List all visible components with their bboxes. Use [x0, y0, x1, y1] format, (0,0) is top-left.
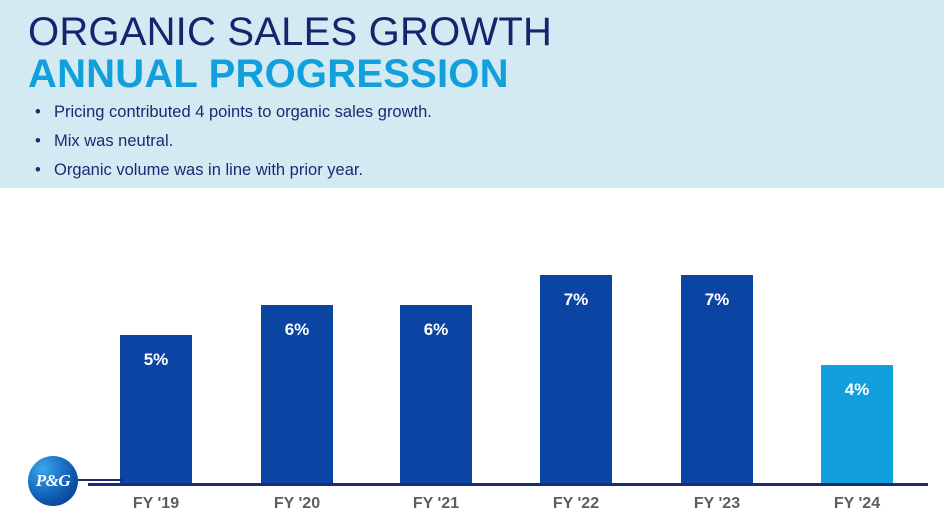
- list-item: • Pricing contributed 4 points to organi…: [33, 101, 432, 123]
- x-axis-line: [88, 483, 928, 486]
- summary-bullet-list: • Pricing contributed 4 points to organi…: [33, 101, 432, 188]
- header-band: ORGANIC SALES GROWTH ANNUAL PROGRESSION …: [0, 0, 944, 188]
- bar-group-fy23: 7% FY '23: [681, 275, 753, 483]
- bar-value-label: 6%: [400, 320, 472, 340]
- x-axis-tick-label: FY '22: [526, 494, 626, 514]
- slide: ORGANIC SALES GROWTH ANNUAL PROGRESSION …: [0, 0, 944, 521]
- list-item: • Mix was neutral.: [33, 130, 432, 152]
- bullet-dot-icon: •: [35, 130, 41, 152]
- x-axis-tick-label: FY '23: [667, 494, 767, 514]
- x-axis-tick-label: FY '21: [386, 494, 486, 514]
- bullet-dot-icon: •: [35, 101, 41, 123]
- bar-value-label: 7%: [681, 290, 753, 310]
- pg-logo-wordmark: P&G: [28, 456, 78, 506]
- page-title-secondary: ANNUAL PROGRESSION: [28, 51, 509, 97]
- bar-group-fy24: 4% FY '24: [821, 365, 893, 483]
- bar-chart: 5% FY '19 6% FY '20 6% FY '21 7% FY '22 …: [0, 188, 944, 521]
- bar-value-label: 5%: [120, 350, 192, 370]
- list-item-label: Organic volume was in line with prior ye…: [54, 161, 363, 179]
- bar-value-label: 6%: [261, 320, 333, 340]
- bar-group-fy20: 6% FY '20: [261, 305, 333, 483]
- pg-logo: P&G: [28, 456, 78, 506]
- bar-group-fy19: 5% FY '19: [120, 335, 192, 483]
- list-item-label: Mix was neutral.: [54, 132, 173, 150]
- x-axis-tick-label: FY '19: [106, 494, 206, 514]
- list-item: • Organic volume was in line with prior …: [33, 159, 432, 181]
- x-axis-tick-label: FY '24: [807, 494, 907, 514]
- page-title-primary: ORGANIC SALES GROWTH: [28, 9, 552, 55]
- list-item-label: Pricing contributed 4 points to organic …: [54, 103, 432, 121]
- pg-logo-rule: [78, 479, 123, 481]
- bar-value-label: 4%: [821, 380, 893, 400]
- bar-value-label: 7%: [540, 290, 612, 310]
- bar-group-fy21: 6% FY '21: [400, 305, 472, 483]
- bar-group-fy22: 7% FY '22: [540, 275, 612, 483]
- x-axis-tick-label: FY '20: [247, 494, 347, 514]
- bullet-dot-icon: •: [35, 159, 41, 181]
